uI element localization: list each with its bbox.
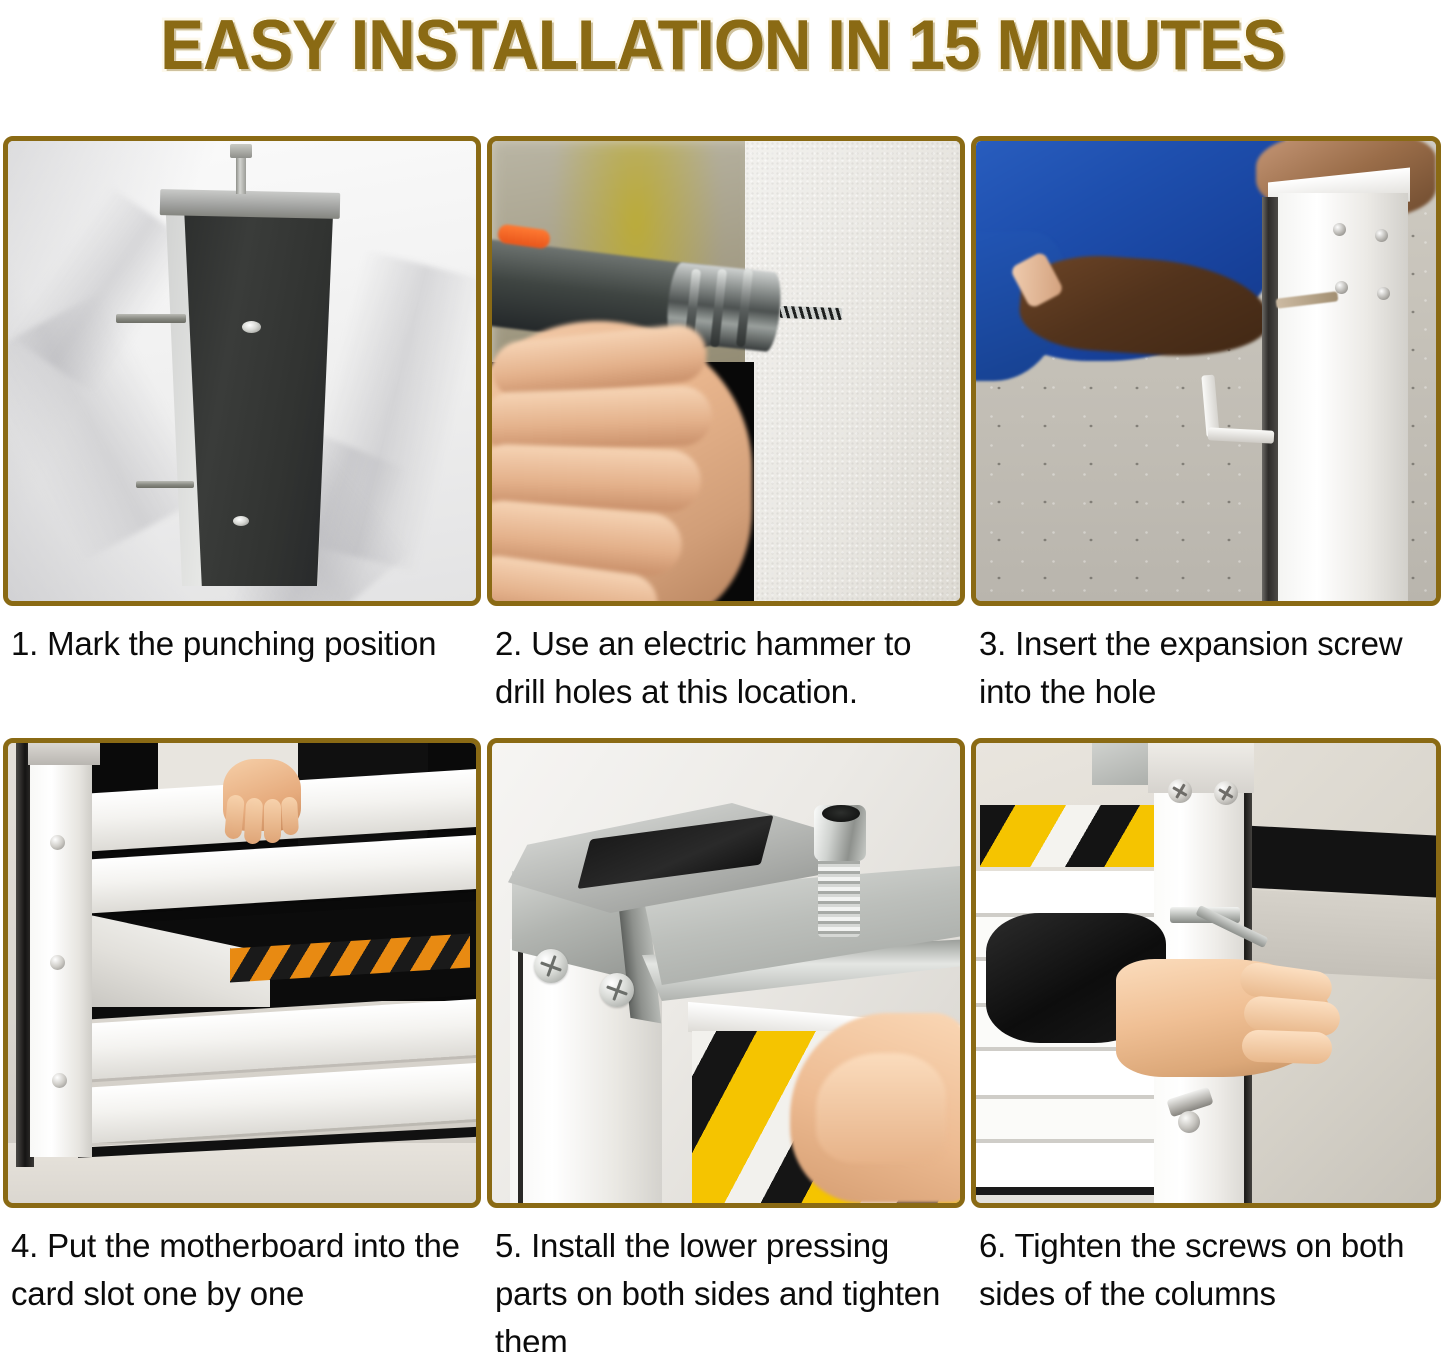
finger [281,797,299,836]
drill-bit [780,306,842,320]
step-1-photo-cell [3,136,481,606]
lower-screw-head [1178,1111,1200,1133]
expansion-stud [116,314,186,323]
step-5-photo-cell [487,738,965,1208]
column-screw [52,1073,67,1088]
column-top-face [1148,743,1254,793]
column-screw [1333,223,1346,236]
column-dark-edge [518,943,523,1203]
hazard-stripe [980,805,1155,867]
step-4-image-frame [3,738,481,1208]
page-title-bar: EASY INSTALLATION IN 15 MINUTES [0,0,1445,92]
step-4-photo-cell [3,738,481,1208]
step-1-image-frame [3,136,481,606]
plate-hole [242,321,261,333]
finger [492,385,713,453]
plate-top-cap [160,189,341,219]
white-wall [745,141,960,601]
thumb-bolt-bore [822,805,860,822]
finger [244,798,263,845]
step-4-scene [8,743,476,1203]
step-1-scene [8,141,476,601]
step-2-image-frame [487,136,965,606]
step-5-scene [492,743,960,1203]
cross-screw [534,949,568,983]
column-top-face [28,743,100,765]
finger [1241,1029,1332,1064]
finger [264,799,281,843]
step-1-caption: 1. Mark the punching position [3,606,481,738]
steps-grid: 1. Mark the punching position 2. Use an … [3,136,1441,1346]
step-2-scene [492,141,960,601]
page-title: EASY INSTALLATION IN 15 MINUTES [160,11,1285,82]
white-column [1278,193,1408,601]
step-6-image-frame [971,738,1441,1208]
step-3-photo-cell [971,136,1441,606]
cross-screw [600,973,634,1007]
step-4-caption: 4. Put the motherboard into the card slo… [3,1208,481,1346]
plate-hole [233,516,249,526]
step-6-photo-cell [971,738,1441,1208]
column-screw [50,835,65,850]
wall-texture [745,141,960,601]
step-3-caption: 3. Insert the expansion screw into the h… [971,606,1441,738]
step-6-caption: 6. Tighten the screws on both sides of t… [971,1208,1441,1346]
step-2-photo-cell [487,136,965,606]
step-6-scene [976,743,1436,1203]
expansion-stud [136,481,194,488]
column-screw [50,955,65,970]
cross-screw [1168,779,1192,803]
installation-guide-page: EASY INSTALLATION IN 15 MINUTES [0,0,1445,1352]
column-dark-edge [1262,197,1278,601]
top-bolt-head [230,144,252,158]
step-3-image-frame [971,136,1441,606]
step-5-caption: 5. Install the lower pressing parts on b… [487,1208,965,1346]
column-screw [1377,287,1390,300]
thumb [816,1053,946,1163]
step-3-scene [976,141,1436,601]
step-5-image-frame [487,738,965,1208]
white-column [30,743,92,1157]
column-screw [1375,229,1388,242]
step-2-caption: 2. Use an electric hammer to drill holes… [487,606,965,738]
cross-screw [1214,781,1238,805]
